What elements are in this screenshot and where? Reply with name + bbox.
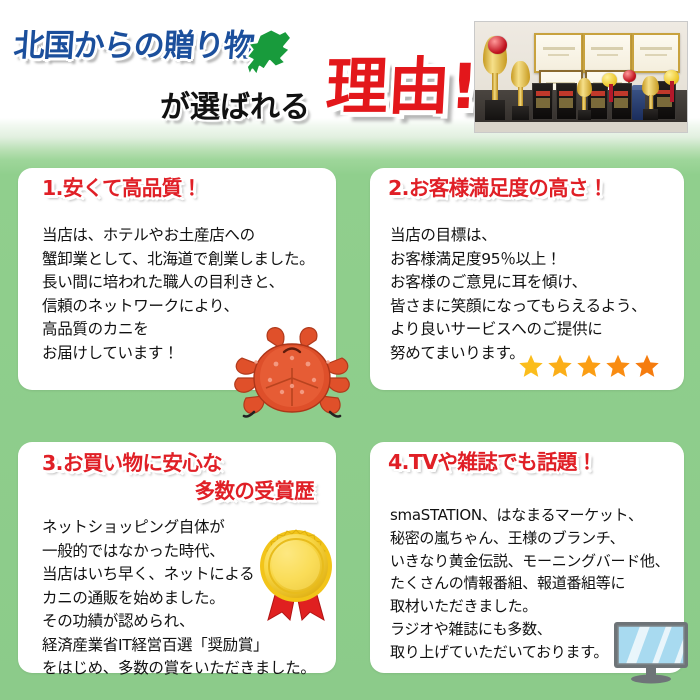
star-icon [634, 353, 660, 379]
king-crab-icon [232, 322, 352, 424]
trophy-item [577, 78, 592, 120]
panel-4-line: 取材いただきました。 [390, 595, 669, 618]
photo-floor [475, 122, 687, 132]
panel-4-line: たくさんの情報番組、報道番組等に [390, 572, 669, 595]
panel-1-line: 蟹卸業として、北海道で創業しました。 [42, 248, 314, 272]
trophy-item [642, 76, 659, 120]
ribbon-icon [609, 84, 613, 103]
panel-4-title: 4.TVや雑誌でも話題！ [388, 450, 597, 476]
panel-2-line: お客様のご意見に耳を傾け、 [390, 271, 646, 295]
panel-3-title-line2: 多数の受賞歴 [42, 478, 314, 506]
certificate-frame [632, 33, 681, 73]
ribbon-icon [670, 81, 674, 102]
panel-1-line: 信頼のネットワークにより、 [42, 295, 314, 319]
reason-headline: 理由! [324, 56, 480, 118]
star-icon [605, 353, 631, 379]
rosette-icon [488, 36, 507, 54]
star-icon [576, 353, 602, 379]
tagline-text: が選ばれる [160, 82, 310, 126]
panel-3-line: 経済産業省IT経営百選「奨励賞」 [42, 634, 316, 658]
panel-3-title: 3.お買い物に安心な 多数の受賞歴 [42, 450, 314, 505]
panel-3-line: をはじめ、多数の賞をいただきました。 [42, 657, 316, 681]
trophy-item [511, 61, 530, 120]
reason-panel-2: 2.お客様満足度の高さ！ 当店の目標は、 お客様満足度95％以上！ お客様のご意… [370, 168, 684, 390]
star-rating [518, 353, 660, 379]
panel-1-line: 当店は、ホテルやお土産店への [42, 224, 314, 248]
award-plaque [611, 83, 632, 120]
award-plaque [532, 83, 553, 120]
panel-2-body: 当店の目標は、 お客様満足度95％以上！ お客様のご意見に耳を傾け、 皆さまに笑… [390, 224, 646, 365]
certificate-frame [534, 33, 583, 73]
panel-2-title: 2.お客様満足度の高さ！ [388, 176, 608, 202]
panel-2-line: お客様満足度95％以上！ [390, 248, 646, 272]
award-plaque [556, 83, 577, 120]
promo-banner: 北国からの贈り物 が選ばれる 理由! [0, 0, 700, 700]
star-icon [547, 353, 573, 379]
gold-medal-icon [252, 528, 340, 624]
certificate-frame [583, 33, 632, 73]
banner-header: 北国からの贈り物 が選ばれる 理由! [0, 0, 700, 150]
brand-logo: 北国からの贈り物 [14, 20, 314, 80]
star-icon [518, 353, 544, 379]
panel-4-line: smaSTATION、はなまるマーケット、 [390, 504, 669, 527]
panel-1-title: 1.安くて高品質！ [42, 176, 202, 202]
television-icon [612, 620, 690, 686]
panel-4-line: 秘密の嵐ちゃん、王様のブランチ、 [390, 527, 669, 550]
panel-2-line: より良いサービスへのご提供に [390, 318, 646, 342]
panel-4-line: いきなり黄金伝説、モーニングバード他、 [390, 550, 669, 573]
panel-2-line: 皆さまに笑顔になってもらえるよう、 [390, 295, 646, 319]
trophy-shelf-photo [474, 21, 688, 133]
panel-1-line: 長い間に培われた職人の目利きと、 [42, 271, 314, 295]
panel-3-title-line1: 3.お買い物に安心な [42, 451, 222, 475]
panel-2-line: 当店の目標は、 [390, 224, 646, 248]
